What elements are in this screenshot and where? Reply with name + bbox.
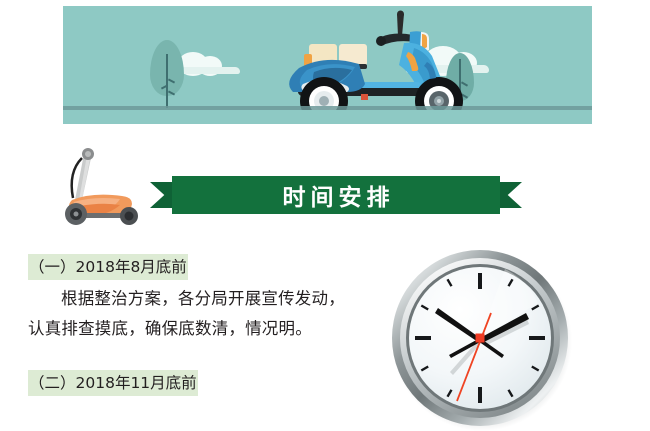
clause-item-two: （二）2018年11月底前 (28, 370, 348, 396)
clause-list: （一）2018年8月底前 根据整治方案，各分局开展宣传发动，认真排查摸底，确保底… (28, 254, 348, 396)
analog-clock-illustration (387, 245, 573, 431)
tree-icon-left (150, 40, 184, 108)
clause-one-body: 根据整治方案，各分局开展宣传发动，认真排查摸底，确保底数清，情况明。 (28, 284, 348, 344)
section-ribbon: 时间安排 (150, 176, 522, 214)
kick-scooter-illustration (44, 148, 144, 228)
clause-item-one: （一）2018年8月底前 根据整治方案，各分局开展宣传发动，认真排查摸底，确保底… (28, 254, 348, 344)
clause-two-heading: （二）2018年11月底前 (28, 370, 198, 396)
section-title: 时间安排 (172, 176, 500, 214)
ground-fill (63, 110, 592, 124)
document-page: 时间安排 （一）2018年8月底前 根据整治方案，各分局开展宣传发动，认真排查摸… (0, 0, 650, 431)
clause-one-heading: （一）2018年8月底前 (28, 254, 188, 280)
hero-illustration-banner (63, 6, 592, 124)
